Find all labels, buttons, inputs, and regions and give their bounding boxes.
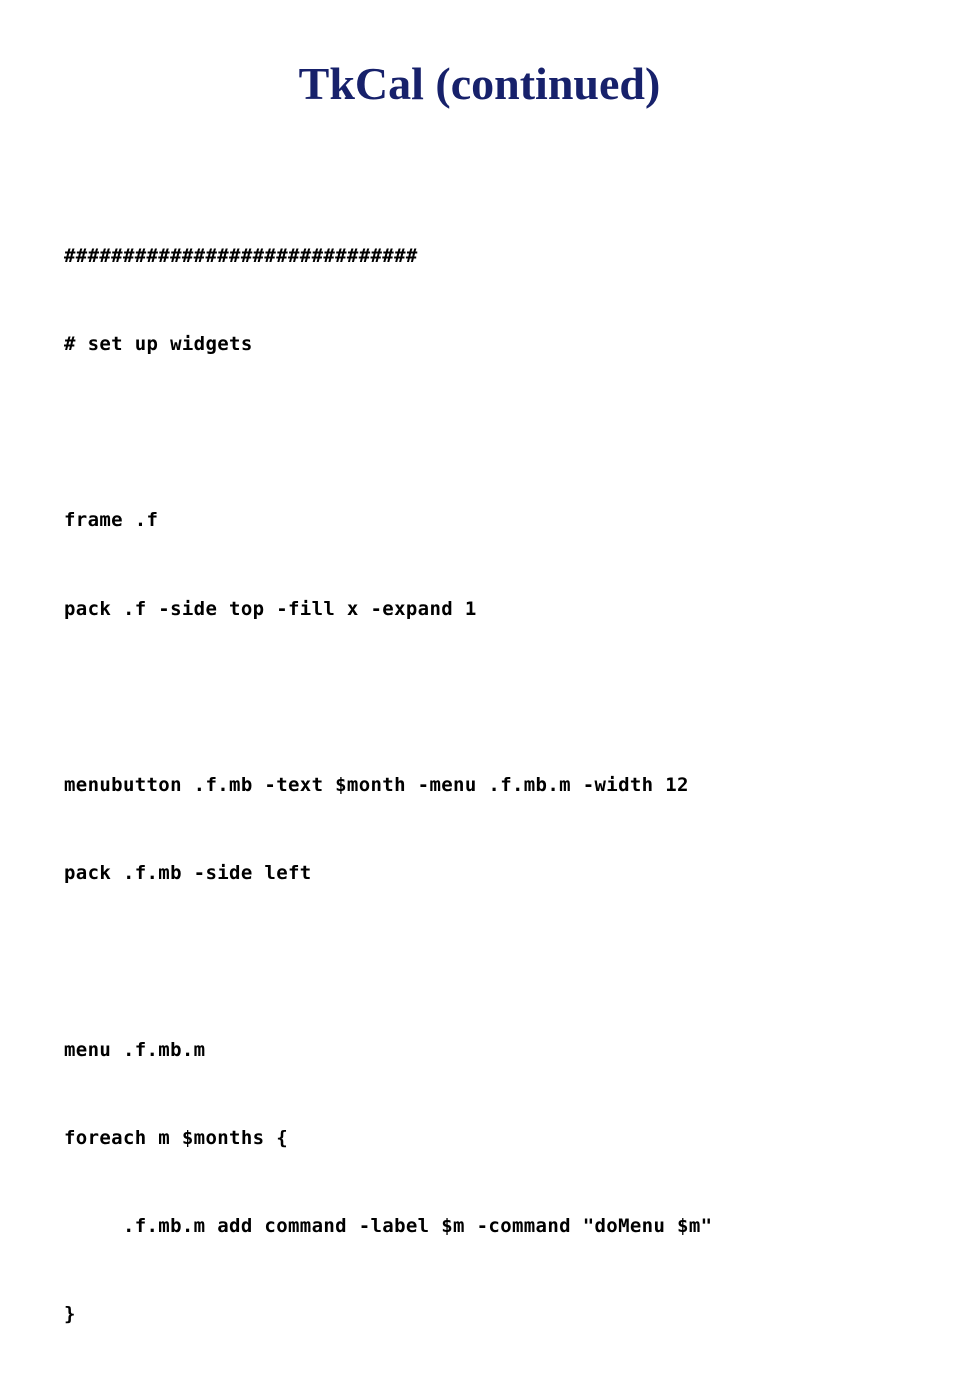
code-line-blank [64, 683, 884, 712]
code-line: menu .f.mb.m [64, 1036, 884, 1065]
code-line-blank [64, 418, 884, 447]
presentation-slide: TkCal (continued) ######################… [0, 0, 959, 719]
code-line: .f.mb.m add command -label $m -command "… [64, 1212, 884, 1241]
code-line: menubutton .f.mb -text $month -menu .f.m… [64, 771, 884, 800]
code-line: ############################## [64, 242, 884, 271]
page-title: TkCal (continued) [0, 58, 959, 110]
code-line: foreach m $months { [64, 1124, 884, 1153]
code-line: # set up widgets [64, 330, 884, 359]
code-block: ############################## # set up … [64, 183, 884, 1389]
code-line: } [64, 1300, 884, 1329]
code-line: pack .f.mb -side left [64, 859, 884, 888]
code-line: frame .f [64, 506, 884, 535]
code-line: pack .f -side top -fill x -expand 1 [64, 595, 884, 624]
code-line-blank [64, 948, 884, 977]
